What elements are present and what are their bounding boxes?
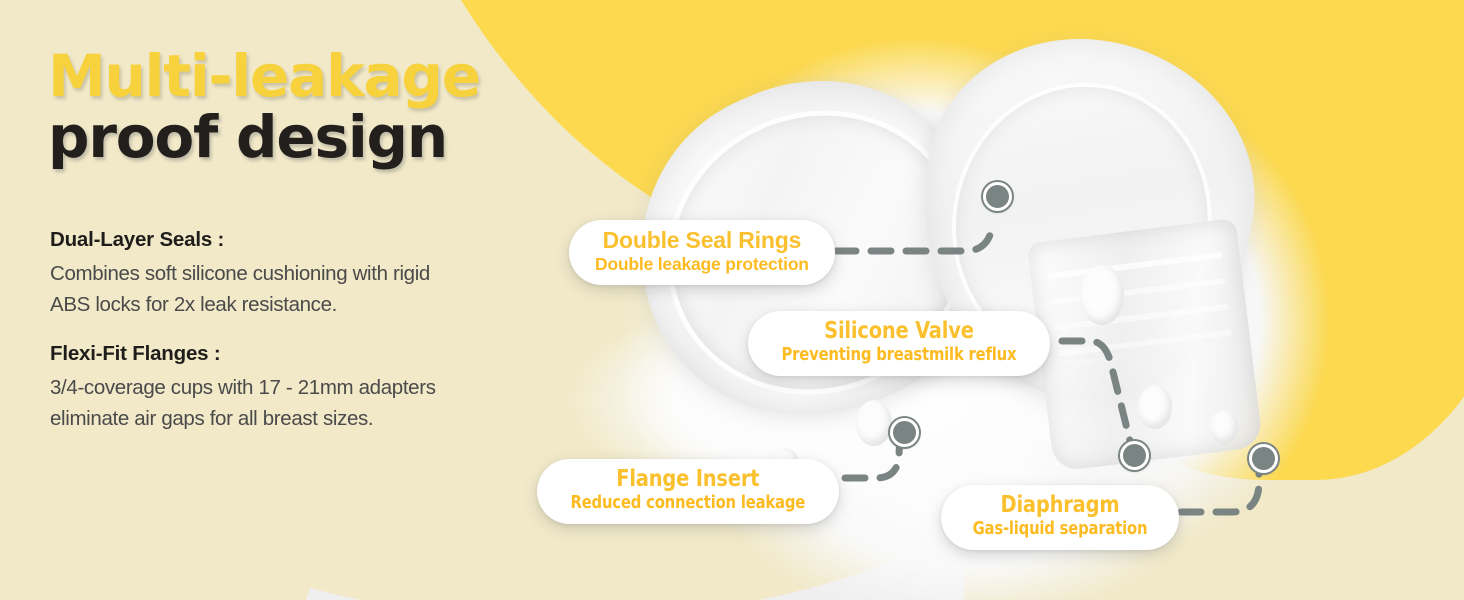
callout-flange-insert[interactable]: Flange Insert Reduced connection leakage: [537, 459, 839, 524]
hotspot-marker-flange-insert[interactable]: [890, 418, 919, 447]
page-title: Multi-leakage proof design: [48, 46, 608, 169]
callout-silicone-valve[interactable]: Silicone Valve Preventing breastmilk ref…: [748, 311, 1050, 376]
callout-title: Silicone Valve: [781, 318, 1016, 344]
callout-subtitle: Gas-liquid separation: [973, 519, 1148, 540]
feature-heading: Dual-Layer Seals :: [50, 228, 570, 252]
callout-subtitle: Double leakage protection: [595, 254, 809, 275]
callout-title: Diaphragm: [973, 492, 1148, 518]
callout-title: Flange Insert: [570, 466, 805, 492]
title-line-1: Multi-leakage: [48, 46, 608, 107]
callout-subtitle: Reduced connection leakage: [570, 493, 805, 514]
feature-text-line-1: 3/4-coverage cups with 17 - 21mm adapter…: [50, 372, 570, 403]
milk-droplet: [1138, 385, 1172, 429]
feature-text-line-1: Combines soft silicone cushioning with r…: [50, 258, 570, 289]
feature-text-line-2: ABS locks for 2x leak resistance.: [50, 289, 570, 320]
callout-subtitle: Preventing breastmilk reflux: [781, 345, 1016, 366]
milk-droplet: [1080, 265, 1124, 325]
feature-block-dual-layer-seals: Dual-Layer Seals : Combines soft silicon…: [50, 228, 570, 320]
promo-banner: Multi-leakage proof design Dual-Layer Se…: [0, 0, 1464, 600]
hotspot-marker-silicone-valve[interactable]: [1120, 441, 1149, 470]
hotspot-marker-double-seal[interactable]: [983, 182, 1012, 211]
feature-heading: Flexi-Fit Flanges :: [50, 342, 570, 366]
callout-double-seal-rings[interactable]: Double Seal Rings Double leakage protect…: [569, 220, 835, 285]
feature-copy: Dual-Layer Seals : Combines soft silicon…: [50, 228, 570, 435]
feature-text-line-2: eliminate air gaps for all breast sizes.: [50, 403, 570, 434]
milk-droplet: [856, 400, 892, 446]
callout-diaphragm[interactable]: Diaphragm Gas-liquid separation: [941, 485, 1179, 550]
feature-block-flexi-fit-flanges: Flexi-Fit Flanges : 3/4-coverage cups wi…: [50, 342, 570, 434]
hotspot-marker-diaphragm[interactable]: [1249, 444, 1278, 473]
callout-title: Double Seal Rings: [595, 227, 809, 253]
title-line-2: proof design: [48, 107, 608, 168]
milk-droplet: [1210, 410, 1238, 444]
